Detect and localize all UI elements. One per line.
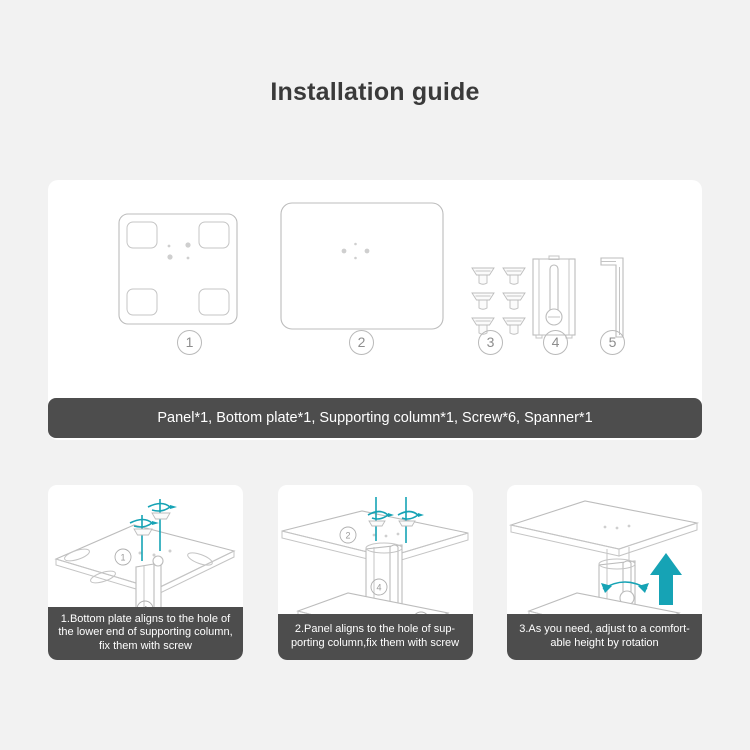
step-3-caption: 3.As you need, adjust to a comfort-able … xyxy=(507,614,702,660)
step-card-1: 1 4 1.Bottom plate aligns to the hole of… xyxy=(48,485,243,660)
svg-text:4: 4 xyxy=(376,583,381,593)
part-badge-1: 1 xyxy=(177,330,202,355)
page-title: Installation guide xyxy=(0,78,750,107)
part-badge-4: 4 xyxy=(543,330,568,355)
step-card-3: 3.As you need, adjust to a comfort-able … xyxy=(507,485,702,660)
part-badge-5: 5 xyxy=(600,330,625,355)
installation-guide-page: Installation guide xyxy=(0,0,750,750)
part-badge-3: 3 xyxy=(478,330,503,355)
part-badge-2: 2 xyxy=(349,330,374,355)
part-supporting-column xyxy=(531,255,577,341)
parts-diagram: 1 2 3 4 5 xyxy=(48,180,702,355)
part-screws xyxy=(471,268,529,340)
step-2-caption: 2.Panel aligns to the hole of sup-portin… xyxy=(278,614,473,660)
step-card-2: 2 4 1 2.Panel aligns to the hole of sup-… xyxy=(278,485,473,660)
part-panel xyxy=(280,202,444,330)
svg-text:1: 1 xyxy=(120,553,125,563)
parts-list-caption: Panel*1, Bottom plate*1, Supporting colu… xyxy=(48,398,702,438)
screw-glyph xyxy=(472,268,525,334)
svg-text:2: 2 xyxy=(345,531,350,541)
part-bottom-plate xyxy=(118,213,238,325)
part-spanner xyxy=(597,255,633,341)
step-1-caption: 1.Bottom plate aligns to the hole of the… xyxy=(48,607,243,661)
